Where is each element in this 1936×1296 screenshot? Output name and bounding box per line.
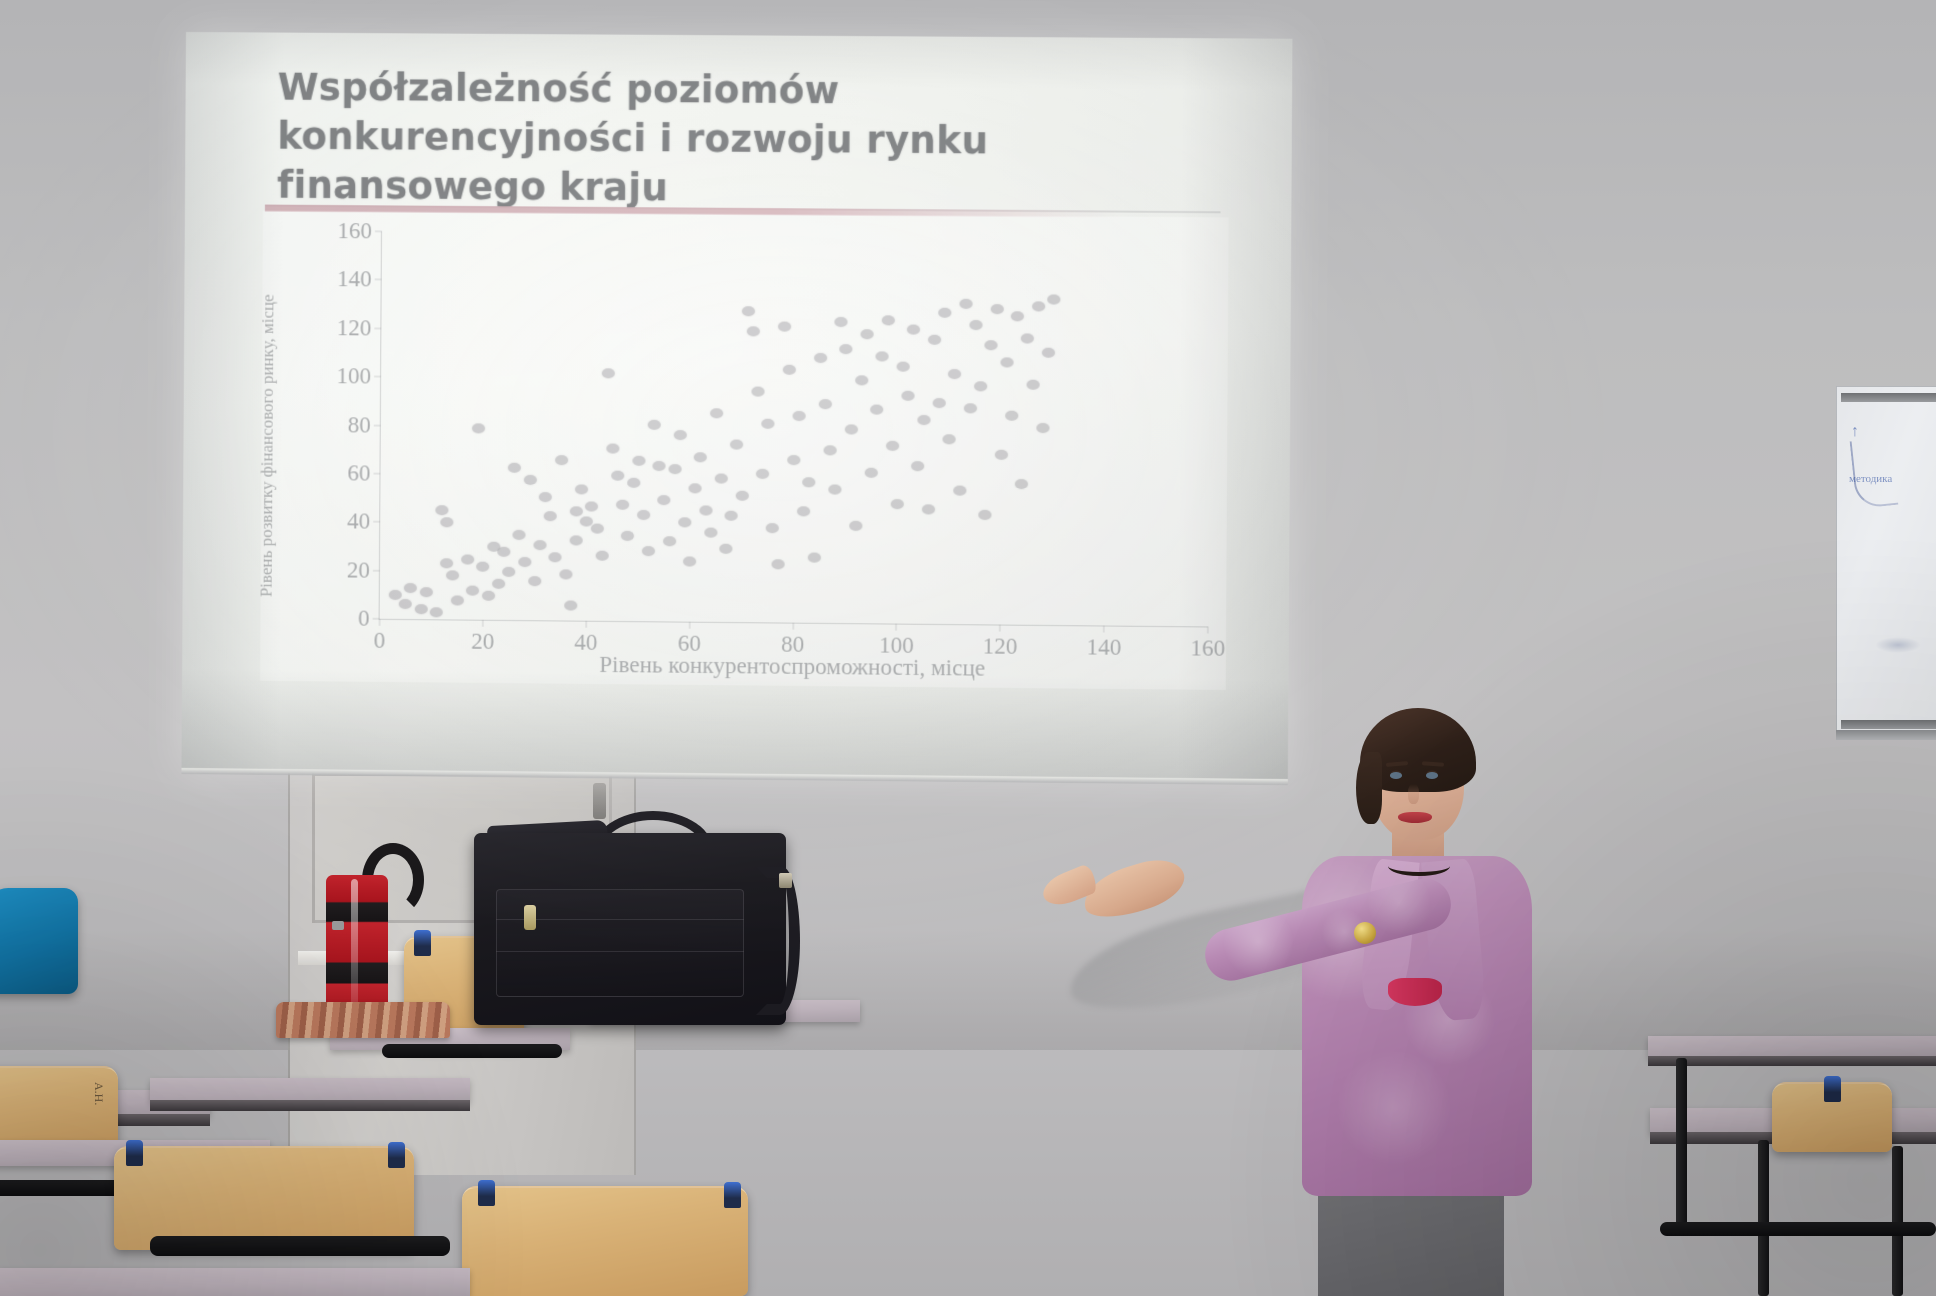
whiteboard-marker-tray: [1836, 730, 1936, 740]
chart-y-tick-label: 40: [347, 509, 370, 535]
chart-data-point: [938, 308, 951, 318]
whiteboard: ↑ методика: [1836, 386, 1936, 736]
chart-y-tick-label: 160: [337, 218, 372, 244]
chart-data-point: [637, 509, 650, 519]
chart-data-point: [1047, 294, 1060, 304]
chart-data-point: [389, 590, 402, 600]
chart-data-point: [508, 462, 521, 472]
chart-data-point: [559, 569, 572, 579]
chart-data-point: [570, 536, 583, 546]
chart-data-point: [865, 468, 878, 478]
chart-data-point: [974, 381, 987, 391]
chart-data-point: [441, 517, 454, 527]
chart-data-point: [995, 449, 1008, 459]
chart-data-point: [539, 492, 552, 502]
chart-data-point: [719, 544, 732, 554]
chart-x-tick-mark: [689, 622, 690, 629]
chart-data-point: [990, 304, 1003, 314]
chair-cap-center-back: [414, 930, 431, 956]
classroom-scene: ↑ методика Współzależność poziomów konku…: [0, 0, 1936, 1296]
chart-data-point: [602, 369, 615, 379]
chart-data-point: [466, 586, 479, 596]
whiteboard-scribble: [1850, 437, 1899, 509]
chart-data-point: [472, 423, 485, 433]
projected-image: Współzależność poziomów konkurencyjności…: [181, 32, 1292, 783]
chart-data-point: [861, 329, 874, 339]
chair-left-center[interactable]: [114, 1146, 414, 1250]
chart-data-point: [844, 424, 857, 434]
chart-data-point: [855, 375, 868, 385]
chart-data-point: [979, 510, 992, 520]
chart-data-point: [1021, 333, 1034, 343]
chart-data-point: [549, 552, 562, 562]
chart-data-point: [902, 390, 915, 400]
chart-y-tick-label: 20: [347, 557, 370, 583]
chart-plot-area: 0204060801001201401600204060801001201401…: [379, 231, 1211, 627]
chart-data-point: [632, 456, 645, 466]
chart-data-point: [523, 475, 536, 485]
desk-leg-right-1: [1676, 1058, 1687, 1228]
chart-data-point: [907, 325, 920, 335]
chart-data-point: [570, 506, 583, 516]
chart-data-point: [1011, 311, 1024, 321]
chart-data-point: [616, 500, 629, 510]
chart-data-point: [642, 546, 655, 556]
chart-data-point: [492, 578, 505, 588]
chart-data-point: [803, 477, 816, 487]
chart-data-point: [1000, 357, 1013, 367]
desk-scribble-0: А.Н.: [91, 1082, 106, 1105]
chart-data-point: [627, 478, 640, 488]
chart-data-point: [959, 299, 972, 309]
chart-data-point: [477, 561, 490, 571]
chart-x-tick-mark: [482, 620, 483, 627]
chart-data-point: [668, 464, 681, 474]
chart-data-point: [891, 500, 904, 510]
chart-data-point: [663, 536, 676, 546]
chart-data-point: [751, 387, 764, 397]
chart-data-point: [606, 444, 619, 454]
chair-cap-left-1: [126, 1140, 143, 1166]
whiteboard-frame-top: [1841, 393, 1936, 402]
thermos-flask[interactable]: [326, 875, 388, 1015]
presenter-mouth: [1398, 812, 1432, 823]
chart-x-tick-mark: [1000, 625, 1001, 632]
chart-data-point: [797, 506, 810, 516]
slide-title: Współzależność poziomów konkurencyjności…: [277, 63, 1163, 217]
chart-y-axis-label: Рівень розвитку фінансового ринку, місце: [257, 294, 279, 597]
chart-data-point: [404, 583, 417, 593]
chart-data-point: [840, 344, 853, 354]
chart-y-tick-label: 60: [347, 460, 370, 486]
chart-data-point: [766, 523, 779, 533]
chart-data-point: [513, 530, 526, 540]
presenter-eye-right: [1426, 772, 1438, 779]
chart-y-tick-mark: [374, 328, 381, 329]
desk-rail-center-back: [382, 1044, 562, 1058]
chart-data-point: [964, 403, 977, 413]
chart-data-point: [742, 307, 755, 317]
chart-data-point: [1032, 302, 1045, 312]
desk-leg-right-2: [1758, 1140, 1769, 1296]
chart-data-point: [585, 502, 598, 512]
chart-data-point: [595, 550, 608, 560]
chart-data-point: [653, 461, 666, 471]
chart-y-tick-mark: [374, 376, 381, 377]
slide: Współzależność poziomów konkurencyjności…: [181, 32, 1292, 783]
chart-data-point: [835, 317, 848, 327]
chart-data-point: [948, 369, 961, 379]
chart-data-point: [689, 483, 702, 493]
presenter-nose: [1408, 784, 1419, 804]
chart-data-point: [824, 446, 837, 456]
chart-y-tick-label: 140: [337, 266, 372, 292]
chart-data-point: [762, 418, 775, 428]
desk-rail-right: [1660, 1222, 1936, 1236]
chair-cap-front-2: [724, 1182, 741, 1208]
chart-data-point: [1015, 479, 1028, 489]
presenter-skirt: [1318, 1180, 1504, 1296]
chart-y-tick-mark: [375, 231, 382, 232]
chart-data-point: [528, 576, 541, 586]
chart-y-tick-label: 120: [337, 315, 372, 341]
thermos-clip: [332, 921, 344, 930]
chart-x-tick-mark: [585, 621, 586, 628]
chart-data-point: [399, 599, 412, 609]
chart-data-point: [481, 591, 494, 601]
chart-data-point: [933, 398, 946, 408]
chart-data-point: [771, 559, 784, 569]
presenter-hair-side: [1356, 752, 1382, 824]
chart-data-point: [621, 531, 634, 541]
chart-data-point: [1036, 423, 1049, 433]
chart-y-tick-mark: [374, 425, 381, 426]
chart-data-point: [611, 470, 624, 480]
chart-data-point: [461, 554, 474, 564]
chart-data-point: [828, 484, 841, 494]
chart-y-tick-label: 0: [358, 606, 370, 632]
chart-data-point: [897, 361, 910, 371]
chair-rail-left-center: [150, 1236, 450, 1256]
chart-x-tick-mark: [1207, 626, 1208, 633]
chart-y-tick-mark: [375, 279, 382, 280]
chart-y-tick-label: 80: [348, 412, 371, 438]
chart-data-point: [533, 540, 546, 550]
chart-data-point: [715, 474, 728, 484]
chart-data-point: [787, 455, 800, 465]
scatter-chart: Рівень розвитку фінансового ринку, місце…: [260, 211, 1229, 690]
desk-top-right-back: [1648, 1036, 1936, 1058]
chart-x-tick-mark: [379, 619, 380, 626]
chart-data-point: [881, 315, 894, 325]
chart-data-point: [1026, 379, 1039, 389]
chart-data-point: [922, 505, 935, 515]
chart-data-point: [849, 521, 862, 531]
chart-data-point: [564, 601, 577, 611]
chart-data-point: [575, 485, 588, 495]
presenter-brooch: [1354, 922, 1376, 944]
chart-data-point: [414, 604, 427, 614]
chart-y-tick-mark: [373, 473, 380, 474]
chart-data-point: [694, 452, 707, 462]
chart-data-point: [445, 571, 458, 581]
chart-data-point: [807, 552, 820, 562]
chart-data-point: [518, 557, 531, 567]
desk-top-left-center: [150, 1078, 470, 1102]
whiteboard-frame-bottom: [1841, 720, 1936, 729]
presenter-scarf: [1388, 978, 1442, 1006]
chart-data-point: [969, 320, 982, 330]
chart-x-tick-mark: [1103, 625, 1104, 632]
chart-data-point: [783, 365, 796, 375]
door-lock-icon[interactable]: [593, 783, 606, 819]
bag-seam-2: [496, 951, 744, 952]
presenter-eye-left: [1390, 772, 1402, 779]
bag-zipper-pull[interactable]: [524, 905, 536, 930]
presenter: [1280, 660, 1700, 1296]
chart-data-point: [1005, 411, 1018, 421]
chart-x-tick-mark: [896, 624, 897, 631]
chart-data-point: [590, 524, 603, 534]
chart-data-point: [756, 469, 769, 479]
chart-data-point: [912, 461, 925, 471]
chart-data-point: [917, 415, 930, 425]
chart-data-point: [683, 556, 696, 566]
bag-shoulder-strap[interactable]: [756, 867, 800, 1015]
chart-data-point: [943, 434, 956, 444]
laptop-bag[interactable]: [474, 833, 786, 1025]
chart-data-point: [793, 411, 806, 421]
desk-edge-left-center: [150, 1100, 470, 1111]
chart-data-point: [876, 351, 889, 361]
chart-data-point: [928, 335, 941, 345]
whiteboard-smudge: [1875, 637, 1921, 653]
chart-data-point: [440, 559, 453, 569]
chart-data-point: [710, 408, 723, 418]
chart-y-tick-mark: [373, 521, 380, 522]
whiteboard-mark-arrow: ↑: [1851, 423, 1859, 441]
chart-data-point: [674, 430, 687, 440]
chart-data-point: [985, 340, 998, 350]
chart-data-point: [451, 595, 464, 605]
chart-data-point: [870, 405, 883, 415]
thermos-highlight: [351, 879, 358, 1009]
chart-data-point: [735, 491, 748, 501]
chair-cap-right-front: [1824, 1076, 1841, 1102]
chart-data-point: [658, 495, 671, 505]
chart-data-point: [886, 441, 899, 451]
blue-backpack[interactable]: [0, 888, 78, 994]
chart-data-point: [819, 399, 832, 409]
desk-leg-right-3: [1892, 1146, 1903, 1296]
chart-data-point: [953, 486, 966, 496]
chart-data-point: [678, 517, 691, 527]
chart-data-point: [725, 510, 738, 520]
chart-data-point: [430, 607, 443, 617]
chair-front-center[interactable]: [462, 1186, 748, 1296]
chart-data-point: [497, 547, 510, 557]
desk-top-bottom-left: [0, 1268, 470, 1296]
chart-x-tick-mark: [792, 623, 793, 630]
presenter-necklace: [1388, 856, 1450, 876]
chair-cap-left-2: [388, 1142, 405, 1168]
chart-data-point: [778, 321, 791, 331]
chart-data-point: [699, 505, 712, 515]
chart-y-tick-label: 100: [336, 363, 371, 389]
chair-cap-front-1: [478, 1180, 495, 1206]
cloth-bundle[interactable]: [276, 1002, 450, 1038]
chart-data-point: [814, 353, 827, 363]
chart-data-point: [436, 505, 449, 515]
chart-data-point: [648, 420, 661, 430]
chart-data-point: [555, 455, 568, 465]
projection-screen: Współzależność poziomów konkurencyjności…: [181, 32, 1292, 783]
chart-data-point: [730, 440, 743, 450]
chart-data-point: [747, 326, 760, 336]
chart-data-point: [704, 527, 717, 537]
bag-buckle: [779, 873, 792, 888]
chart-y-tick-mark: [373, 570, 380, 571]
desk-edge-right-back: [1648, 1056, 1936, 1066]
chart-data-point: [1042, 348, 1055, 358]
chart-data-point: [502, 566, 515, 576]
chart-data-point: [420, 588, 433, 598]
chart-data-point: [544, 511, 557, 521]
